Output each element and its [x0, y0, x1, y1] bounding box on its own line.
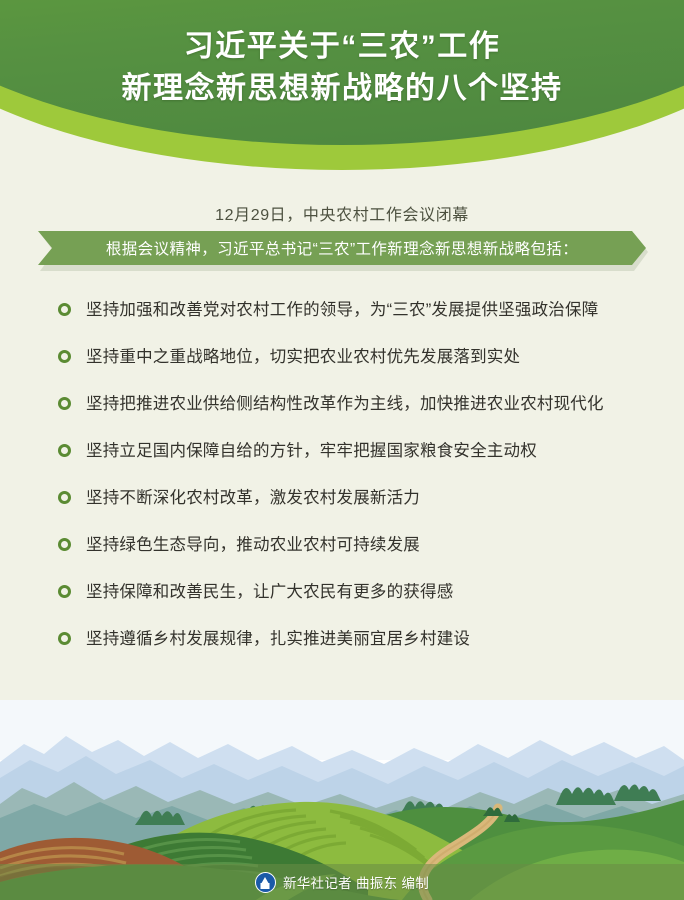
- list-item-text: 坚持保障和改善民生，让广大农民有更多的获得感: [86, 578, 646, 607]
- list-item: 坚持绿色生态导向，推动农业农村可持续发展: [58, 531, 646, 560]
- ring-bullet-icon: [58, 538, 71, 551]
- ring-bullet-icon: [58, 350, 71, 363]
- list-item: 坚持把推进农业供给侧结构性改革作为主线，加快推进农业农村现代化: [58, 390, 646, 419]
- list-item-text: 坚持不断深化农村改革，激发农村发展新活力: [86, 484, 646, 513]
- list-item: 坚持保障和改善民生，让广大农民有更多的获得感: [58, 578, 646, 607]
- title-line-1: 习近平关于“三农”工作: [0, 26, 684, 68]
- list-item: 坚持遵循乡村发展规律，扎实推进美丽宜居乡村建设: [58, 625, 646, 654]
- footer-credit-bar: 新华社记者 曲振东 编制: [0, 864, 684, 900]
- page-title: 习近平关于“三农”工作 新理念新思想新战略的八个坚持: [0, 26, 684, 110]
- list-item-text: 坚持把推进农业供给侧结构性改革作为主线，加快推进农业农村现代化: [86, 390, 646, 419]
- footer-credit-text: 新华社记者 曲振东 编制: [283, 872, 429, 892]
- ring-bullet-icon: [58, 491, 71, 504]
- points-list: 坚持加强和改善党对农村工作的领导，为“三农”发展提供坚强政治保障 坚持重中之重战…: [58, 296, 646, 672]
- list-item-text: 坚持绿色生态导向，推动农业农村可持续发展: [86, 531, 646, 560]
- list-item-text: 坚持重中之重战略地位，切实把农业农村优先发展落到实处: [86, 343, 646, 372]
- list-item: 坚持立足国内保障自给的方针，牢牢把握国家粮食安全主动权: [58, 437, 646, 466]
- ring-bullet-icon: [58, 632, 71, 645]
- list-item-text: 坚持立足国内保障自给的方针，牢牢把握国家粮食安全主动权: [86, 437, 646, 466]
- ring-bullet-icon: [58, 303, 71, 316]
- ring-bullet-icon: [58, 585, 71, 598]
- ribbon-text: 根据会议精神，习近平总书记“三农”工作新理念新思想新战略包括：: [106, 237, 578, 259]
- xinhua-logo-icon: [255, 872, 276, 893]
- infographic-poster: 习近平关于“三农”工作 新理念新思想新战略的八个坚持 12月29日，中央农村工作…: [0, 0, 684, 900]
- list-item: 坚持加强和改善党对农村工作的领导，为“三农”发展提供坚强政治保障: [58, 296, 646, 325]
- list-item: 坚持重中之重战略地位，切实把农业农村优先发展落到实处: [58, 343, 646, 372]
- list-item: 坚持不断深化农村改革，激发农村发展新活力: [58, 484, 646, 513]
- ring-bullet-icon: [58, 397, 71, 410]
- list-item-text: 坚持加强和改善党对农村工作的领导，为“三农”发展提供坚强政治保障: [86, 296, 646, 325]
- title-line-2: 新理念新思想新战略的八个坚持: [0, 68, 684, 110]
- ring-bullet-icon: [58, 444, 71, 457]
- subtitle: 12月29日，中央农村工作会议闭幕: [0, 201, 684, 225]
- ribbon-banner: 根据会议精神，习近平总书记“三农”工作新理念新思想新战略包括：: [38, 231, 646, 265]
- list-item-text: 坚持遵循乡村发展规律，扎实推进美丽宜居乡村建设: [86, 625, 646, 654]
- poster-header: 习近平关于“三农”工作 新理念新思想新战略的八个坚持: [0, 0, 684, 170]
